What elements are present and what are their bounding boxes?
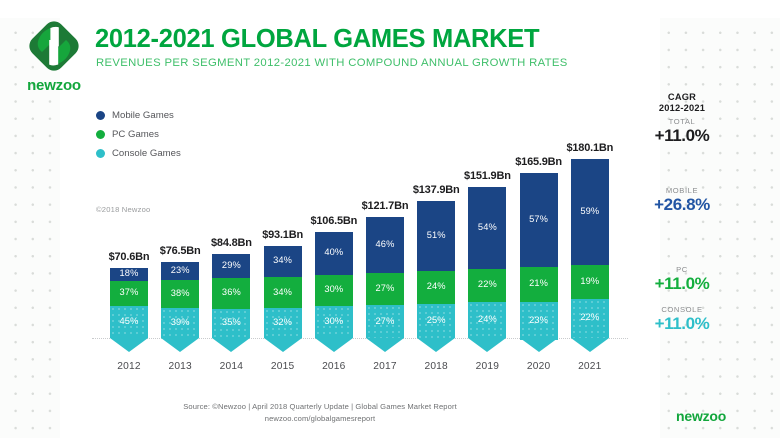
bar-group-2016[interactable]: 40%30%30%	[315, 232, 353, 352]
bar-segment-label-mobile: 18%	[110, 268, 148, 278]
stacked-bar-chart: 18%37%45%$70.6Bn201223%38%39%$76.5Bn2013…	[0, 0, 780, 438]
bar-group-2021[interactable]: 59%19%22%	[571, 159, 609, 352]
cagr-caption: CONSOLE	[630, 305, 734, 314]
bar-group-2015[interactable]: 34%34%32%	[264, 246, 302, 352]
bar-segment-label-console: 45%	[110, 316, 148, 326]
footer-wordmark: newzoo	[676, 408, 726, 424]
bar-arrow-tip	[468, 338, 506, 352]
bar-segment-console: 45%	[110, 306, 148, 338]
bar-segment-mobile: 57%	[520, 173, 558, 267]
bar-segment-label-mobile: 46%	[366, 239, 404, 249]
bar-arrow-tip	[315, 338, 353, 352]
cagr-value: +11.0%	[630, 314, 734, 334]
cagr-row-pc: PC +11.0%	[630, 265, 734, 294]
bar-segment-label-pc: 22%	[468, 279, 506, 289]
bar-segment-label-pc: 36%	[212, 287, 250, 297]
bar-segment-label-mobile: 29%	[212, 260, 250, 270]
bar-arrow-tip	[110, 338, 148, 352]
bar-segment-label-pc: 21%	[520, 278, 558, 288]
cagr-caption: TOTAL	[630, 117, 734, 126]
bar-segment-console: 22%	[571, 299, 609, 338]
bar-arrow-tip	[571, 338, 609, 352]
bar-segment-label-mobile: 23%	[161, 265, 199, 275]
bar-total-label-2017: $121.7Bn	[345, 200, 425, 212]
footer-source: Source: ©Newzoo | April 2018 Quarterly U…	[0, 401, 640, 413]
bar-segment-console: 30%	[315, 306, 353, 338]
bar-segment-mobile: 40%	[315, 232, 353, 274]
bar-group-2017[interactable]: 46%27%27%	[366, 217, 404, 352]
cagr-value: +11.0%	[630, 274, 734, 294]
bar-segment-pc: 36%	[212, 278, 250, 308]
bar-total-label-2020: $165.9Bn	[499, 156, 579, 168]
bar-segment-pc: 34%	[264, 277, 302, 308]
bar-segment-mobile: 23%	[161, 262, 199, 279]
cagr-value: +26.8%	[630, 195, 734, 215]
bar-segment-console: 23%	[520, 302, 558, 340]
axis-label-2021: 2021	[560, 361, 620, 372]
bar-segment-label-mobile: 57%	[520, 214, 558, 224]
bar-segment-pc: 19%	[571, 265, 609, 299]
bar-segment-label-mobile: 59%	[571, 206, 609, 216]
cagr-caption: MOBILE	[630, 186, 734, 195]
bar-segment-mobile: 46%	[366, 217, 404, 273]
bar-group-2018[interactable]: 51%24%25%	[417, 201, 455, 352]
bar-segment-console: 25%	[417, 304, 455, 338]
bar-segment-label-pc: 37%	[110, 287, 148, 297]
bar-segment-label-console: 23%	[520, 315, 558, 325]
footer-url[interactable]: newzoo.com/globalgamesreport	[0, 413, 640, 425]
bar-segment-label-console: 25%	[417, 315, 455, 325]
bar-segment-mobile: 59%	[571, 159, 609, 265]
infographic-stage: newzoo 2012-2021 GLOBAL GAMES MARKET REV…	[0, 0, 780, 438]
bar-segment-pc: 27%	[366, 273, 404, 306]
bar-segment-pc: 30%	[315, 275, 353, 307]
bar-total-label-2021: $180.1Bn	[550, 142, 630, 154]
bar-arrow-tip	[520, 338, 558, 352]
bar-segment-label-pc: 24%	[417, 281, 455, 291]
bar-arrow-tip	[417, 338, 455, 352]
bar-segment-label-mobile: 51%	[417, 230, 455, 240]
cagr-heading: CAGR 2012-2021	[630, 92, 734, 115]
bar-segment-mobile: 51%	[417, 201, 455, 271]
bar-segment-label-pc: 38%	[161, 288, 199, 298]
bar-arrow-tip	[264, 338, 302, 352]
cagr-row-mobile: MOBILE +26.8%	[630, 186, 734, 215]
bar-group-2020[interactable]: 57%21%23%	[520, 173, 558, 352]
bar-segment-console: 24%	[468, 302, 506, 338]
cagr-caption: PC	[630, 265, 734, 274]
bar-group-2019[interactable]: 54%22%24%	[468, 187, 506, 352]
bar-segment-console: 39%	[161, 308, 199, 338]
bar-segment-pc: 22%	[468, 269, 506, 302]
cagr-heading-line1: CAGR	[630, 92, 734, 103]
bar-segment-label-pc: 19%	[571, 276, 609, 286]
cagr-row-console: CONSOLE +11.0%	[630, 305, 734, 334]
footer: Source: ©Newzoo | April 2018 Quarterly U…	[0, 401, 640, 425]
cagr-row-total: TOTAL +11.0%	[630, 117, 734, 146]
bar-arrow-tip	[161, 338, 199, 352]
bar-segment-mobile: 54%	[468, 187, 506, 268]
bar-segment-console: 35%	[212, 309, 250, 338]
bar-segment-label-mobile: 54%	[468, 222, 506, 232]
bar-segment-pc: 21%	[520, 267, 558, 302]
bar-segment-label-pc: 34%	[264, 287, 302, 297]
bar-segment-mobile: 34%	[264, 246, 302, 277]
bar-total-label-2019: $151.9Bn	[447, 170, 527, 182]
cagr-heading-line2: 2012-2021	[630, 103, 734, 114]
bar-segment-label-console: 24%	[468, 314, 506, 324]
bar-arrow-tip	[366, 338, 404, 352]
bar-segment-mobile: 18%	[110, 268, 148, 281]
bar-segment-label-console: 32%	[264, 317, 302, 327]
bar-segment-pc: 37%	[110, 281, 148, 307]
bar-segment-console: 32%	[264, 308, 302, 338]
bar-segment-pc: 24%	[417, 271, 455, 304]
bar-segment-label-console: 22%	[571, 312, 609, 322]
bar-segment-label-pc: 30%	[315, 284, 353, 294]
bar-segment-console: 27%	[366, 305, 404, 338]
bar-total-label-2016: $106.5Bn	[294, 215, 374, 227]
bar-segment-mobile: 29%	[212, 254, 250, 278]
bar-segment-pc: 38%	[161, 280, 199, 309]
bar-group-2013[interactable]: 23%38%39%	[161, 262, 199, 352]
bar-total-label-2018: $137.9Bn	[396, 184, 476, 196]
bar-segment-label-mobile: 40%	[315, 247, 353, 257]
bar-group-2012[interactable]: 18%37%45%	[110, 268, 148, 352]
bar-segment-label-mobile: 34%	[264, 255, 302, 265]
cagr-value: +11.0%	[630, 126, 734, 146]
bar-segment-label-console: 30%	[315, 316, 353, 326]
bar-group-2014[interactable]: 29%36%35%	[212, 254, 250, 352]
bar-arrow-tip	[212, 338, 250, 352]
bar-segment-label-console: 39%	[161, 317, 199, 327]
bar-segment-label-console: 35%	[212, 317, 250, 327]
bar-total-label-2015: $93.1Bn	[243, 229, 323, 241]
bar-segment-label-pc: 27%	[366, 283, 404, 293]
bar-segment-label-console: 27%	[366, 316, 404, 326]
